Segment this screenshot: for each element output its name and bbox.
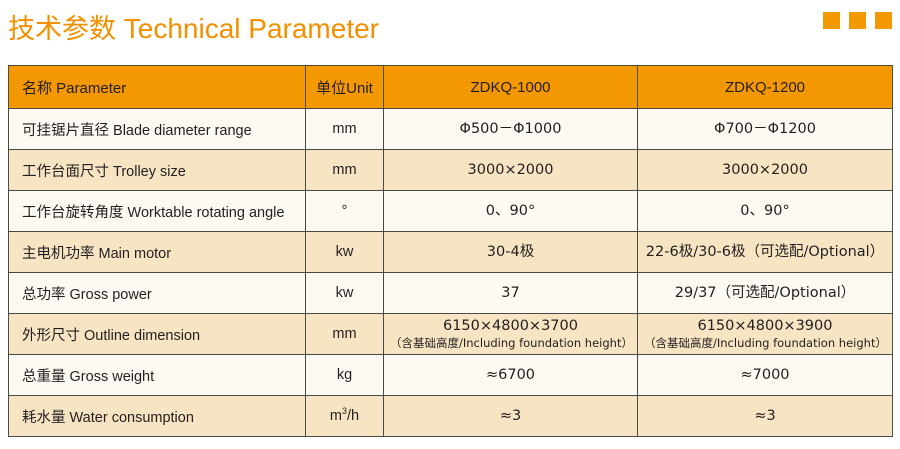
value-note: （含基础高度/Including foundation height） <box>390 336 631 351</box>
value-main: ≈7000 <box>644 367 886 384</box>
parameter-name-chinese: 耗水量 <box>22 410 66 426</box>
table-row: 总重量 Gross weightkg≈6700≈7000 <box>9 355 893 396</box>
parameter-name-english: Trolley size <box>109 164 186 180</box>
cell-unit: m3/h <box>306 396 384 437</box>
cell-value-zdkq-1000: 30-4极 <box>384 232 638 273</box>
page-title: 技术参数 Technical Parameter <box>8 12 379 47</box>
value-main: 0、90° <box>390 203 631 220</box>
value-main: ≈6700 <box>390 367 631 384</box>
cell-unit: kg <box>306 355 384 396</box>
cell-parameter-name: 总功率 Gross power <box>9 273 306 314</box>
column-header-model-zdkq-1000: ZDKQ-1000 <box>384 66 638 109</box>
cell-value-zdkq-1200: ≈7000 <box>638 355 893 396</box>
cell-value-zdkq-1200: 0、90° <box>638 191 893 232</box>
parameter-name-english: Worktable rotating angle <box>124 205 285 221</box>
parameter-name-chinese: 工作台旋转角度 <box>22 205 124 221</box>
cell-unit: kw <box>306 273 384 314</box>
cell-value-zdkq-1000: 3000×2000 <box>384 150 638 191</box>
cell-value-zdkq-1000: 0、90° <box>384 191 638 232</box>
table-header-row: 名称 Parameter 单位Unit ZDKQ-1000 ZDKQ-1200 <box>9 66 893 109</box>
table-row: 外形尺寸 Outline dimensionmm6150×4800×3700（含… <box>9 314 893 355</box>
page-root: 技术参数 Technical Parameter 名称 Parameter 单位… <box>0 0 900 449</box>
cell-unit: mm <box>306 109 384 150</box>
parameter-name-chinese: 主电机功率 <box>22 246 95 262</box>
table-row: 耗水量 Water consumptionm3/h≈3≈3 <box>9 396 893 437</box>
cell-unit: ° <box>306 191 384 232</box>
table-row: 工作台面尺寸 Trolley sizemm3000×20003000×2000 <box>9 150 893 191</box>
square-icon <box>849 12 866 29</box>
parameter-name-english: Gross weight <box>66 369 155 385</box>
cell-parameter-name: 工作台旋转角度 Worktable rotating angle <box>9 191 306 232</box>
parameter-name-english: Gross power <box>66 287 152 303</box>
parameter-name-chinese: 可挂锯片直径 <box>22 123 109 139</box>
cell-parameter-name: 可挂锯片直径 Blade diameter range <box>9 109 306 150</box>
cell-parameter-name: 耗水量 Water consumption <box>9 396 306 437</box>
cell-parameter-name: 总重量 Gross weight <box>9 355 306 396</box>
value-main: 22-6极/30-6极（可选配/Optional） <box>644 244 886 261</box>
value-main: ≈3 <box>390 408 631 425</box>
value-main: 6150×4800×3700 <box>390 318 631 335</box>
parameter-name-english: Main motor <box>95 246 172 262</box>
table-row: 总功率 Gross powerkw3729/37（可选配/Optional） <box>9 273 893 314</box>
page-header: 技术参数 Technical Parameter <box>0 0 900 62</box>
table-body: 可挂锯片直径 Blade diameter rangemmΦ500－Φ1000Φ… <box>9 109 893 437</box>
parameter-name-chinese: 总功率 <box>22 287 66 303</box>
parameter-name-chinese: 总重量 <box>22 369 66 385</box>
cell-value-zdkq-1000: 6150×4800×3700（含基础高度/Including foundatio… <box>384 314 638 355</box>
value-main: Φ500－Φ1000 <box>390 121 631 138</box>
value-main: 3000×2000 <box>644 162 886 179</box>
value-main: 30-4极 <box>390 244 631 261</box>
value-main: 29/37（可选配/Optional） <box>644 285 886 302</box>
cell-value-zdkq-1200: 6150×4800×3900（含基础高度/Including foundatio… <box>638 314 893 355</box>
table-row: 主电机功率 Main motorkw30-4极22-6极/30-6极（可选配/O… <box>9 232 893 273</box>
cell-value-zdkq-1000: 37 <box>384 273 638 314</box>
value-main: ≈3 <box>644 408 886 425</box>
parameter-name-english: Outline dimension <box>80 328 200 344</box>
cell-parameter-name: 主电机功率 Main motor <box>9 232 306 273</box>
table-row: 可挂锯片直径 Blade diameter rangemmΦ500－Φ1000Φ… <box>9 109 893 150</box>
cell-unit: kw <box>306 232 384 273</box>
square-icon <box>823 12 840 29</box>
technical-parameter-table: 名称 Parameter 单位Unit ZDKQ-1000 ZDKQ-1200 … <box>8 65 893 437</box>
column-header-unit: 单位Unit <box>306 66 384 109</box>
value-main: 0、90° <box>644 203 886 220</box>
cell-value-zdkq-1200: ≈3 <box>638 396 893 437</box>
cell-value-zdkq-1200: Φ700－Φ1200 <box>638 109 893 150</box>
column-header-model-zdkq-1200: ZDKQ-1200 <box>638 66 893 109</box>
value-main: 37 <box>390 285 631 302</box>
cell-value-zdkq-1000: ≈3 <box>384 396 638 437</box>
value-main: 6150×4800×3900 <box>644 318 886 335</box>
cell-value-zdkq-1200: 3000×2000 <box>638 150 893 191</box>
value-main: Φ700－Φ1200 <box>644 121 886 138</box>
parameter-name-chinese: 外形尺寸 <box>22 328 80 344</box>
cell-unit: mm <box>306 150 384 191</box>
square-icon <box>875 12 892 29</box>
parameter-name-chinese: 工作台面尺寸 <box>22 164 109 180</box>
cell-value-zdkq-1000: Φ500－Φ1000 <box>384 109 638 150</box>
cell-unit: mm <box>306 314 384 355</box>
unit-superscript: 3 <box>342 406 347 416</box>
page-title-english: Technical Parameter <box>124 13 379 44</box>
value-main: 3000×2000 <box>390 162 631 179</box>
cell-parameter-name: 工作台面尺寸 Trolley size <box>9 150 306 191</box>
table-row: 工作台旋转角度 Worktable rotating angle°0、90°0、… <box>9 191 893 232</box>
cell-value-zdkq-1200: 22-6极/30-6极（可选配/Optional） <box>638 232 893 273</box>
table-header: 名称 Parameter 单位Unit ZDKQ-1000 ZDKQ-1200 <box>9 66 893 109</box>
column-header-parameter: 名称 Parameter <box>9 66 306 109</box>
cell-value-zdkq-1000: ≈6700 <box>384 355 638 396</box>
page-title-chinese: 技术参数 <box>8 14 116 45</box>
cell-parameter-name: 外形尺寸 Outline dimension <box>9 314 306 355</box>
parameter-name-english: Water consumption <box>66 410 194 426</box>
parameter-name-english: Blade diameter range <box>109 123 252 139</box>
value-note: （含基础高度/Including foundation height） <box>644 336 886 351</box>
decor-squares <box>823 12 892 29</box>
cell-value-zdkq-1200: 29/37（可选配/Optional） <box>638 273 893 314</box>
